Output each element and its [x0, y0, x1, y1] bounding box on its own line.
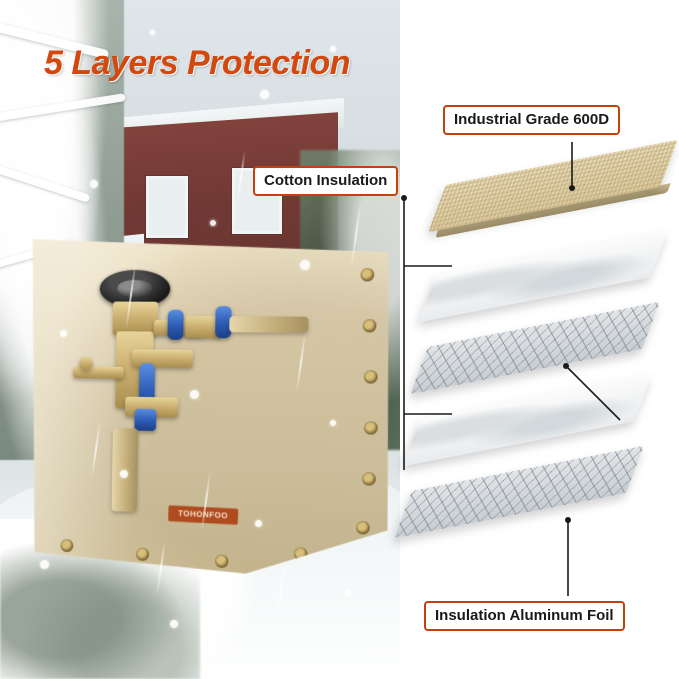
barn-window	[146, 176, 188, 238]
insulated-faucet-cover: TOHONFOO	[20, 231, 397, 579]
callout-industrial-grade-600d: Industrial Grade 600D	[443, 105, 620, 135]
layer-1-outer-fabric	[428, 140, 678, 233]
valve-handle-blue	[167, 310, 183, 340]
page-title: 5 Layers Protection	[44, 44, 350, 83]
grommet-eyelet-icon	[362, 472, 376, 486]
callout-insulation-aluminum-foil: Insulation Aluminum Foil	[424, 601, 625, 631]
cover-shading	[20, 231, 397, 579]
outlet-pipe	[229, 316, 308, 333]
drain-pipe	[111, 428, 138, 512]
grommet-eyelet-icon	[136, 548, 149, 561]
exploded-layer-stack	[379, 0, 679, 679]
callout-cotton-insulation: Cotton Insulation	[253, 166, 398, 196]
brand-logo-badge: TOHONFOO	[168, 505, 238, 524]
product-photo-snow-scene: TOHONFOO	[0, 0, 400, 679]
grommet-eyelet-icon	[215, 554, 228, 568]
valve-handle-blue	[134, 409, 156, 431]
product-infographic: TOHONFOO	[0, 0, 679, 679]
